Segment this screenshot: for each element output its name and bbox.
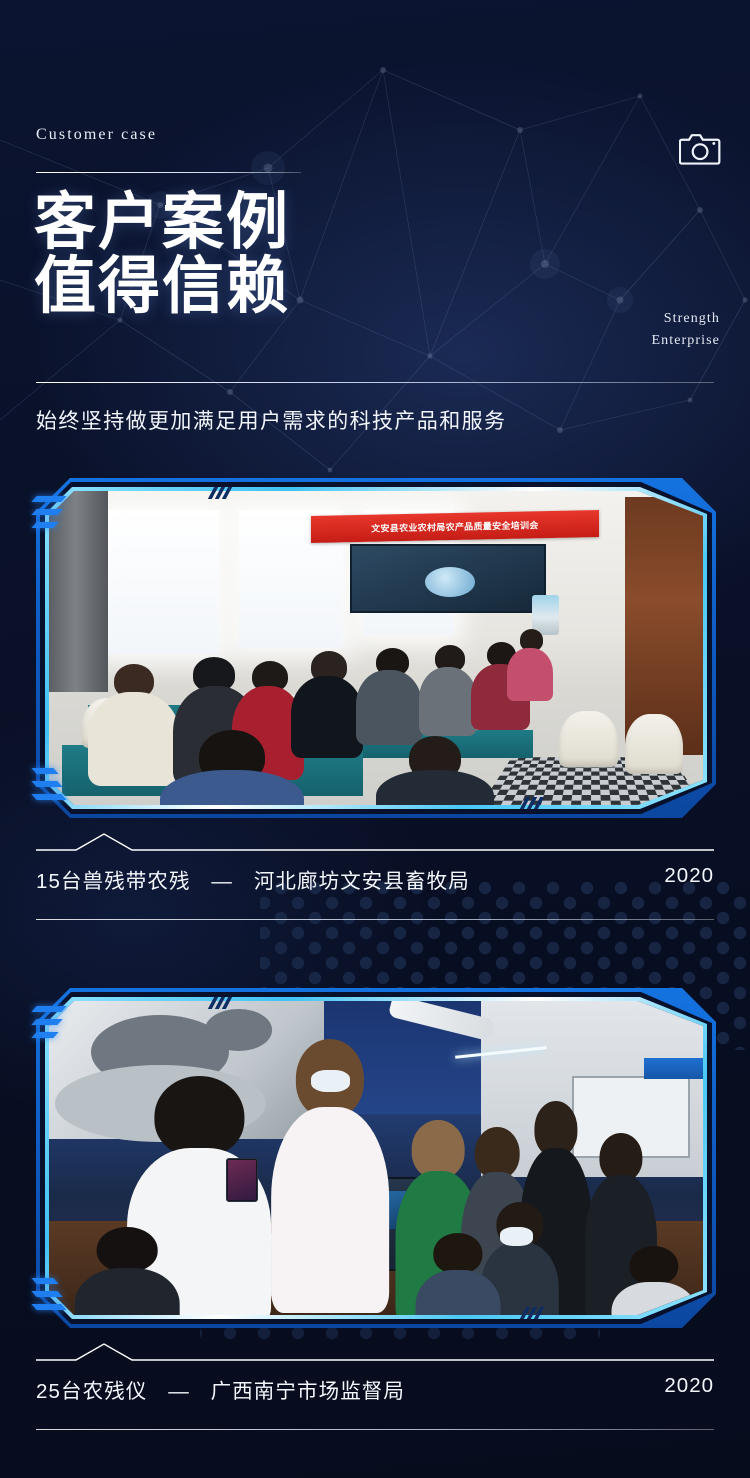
page-subtitle: 始终坚持做更加满足用户需求的科技产品和服务 [36,405,506,435]
case-2-photo[interactable] [49,1001,703,1315]
eyebrow-divider [36,172,301,173]
frame-tick-marks-top [211,487,229,499]
page-title: 客户案例 值得信赖 [34,190,454,319]
strength-enterprise-label: Strength Enterprise [520,308,720,351]
case-1-year: 2020 [664,864,714,888]
case-1-caption-dash: — [211,870,233,893]
page-title-line-1: 客户案例 [34,185,290,258]
lab-demo-scene [49,1001,703,1315]
case-2-caption-org: 广西南宁市场监督局 [211,1380,405,1403]
frame-corner-accent-bottom-left [34,1270,74,1316]
case-item-1[interactable]: 文安县农业农村局农产品质量安全培训会 [0,478,750,936]
case-2-year: 2020 [664,1374,714,1398]
strength-line-1: Strength [520,308,720,330]
frame-tick-marks-bottom [523,797,541,809]
case-1-caption: 15台兽残带农残 — 河北廊坊文安县畜牧局 2020 [0,818,750,936]
strength-line-2: Enterprise [520,330,720,352]
frame-corner-accent-top-left [34,1000,74,1046]
frame-tick-marks-top [211,997,229,1009]
case-1-photo-frame[interactable]: 文安县农业农村局农产品质量安全培训会 [36,478,716,818]
frame-corner-accent-top-left [34,490,74,536]
case-1-caption-text: 15台兽残带农残 — 河北廊坊文安县畜牧局 [36,864,470,894]
caption-bottom-divider [36,919,714,920]
case-2-caption-title: 25台农残仪 [36,1380,147,1403]
page-header: Customer case 客户案例 值得信赖 Strength Enterpr… [0,0,750,470]
seminar-room-scene: 文安县农业农村局农产品质量安全培训会 [49,491,703,805]
case-2-photo-frame[interactable] [36,988,716,1328]
case-2-caption-dash: — [168,1380,190,1403]
frame-tick-marks-bottom [523,1307,541,1319]
case-1-caption-org: 河北廊坊文安县畜牧局 [254,870,470,893]
page-title-line-2: 值得信赖 [34,254,454,318]
case-1-photo[interactable]: 文安县农业农村局农产品质量安全培训会 [49,491,703,805]
caption-bottom-divider [36,1429,714,1430]
eyebrow-label: Customer case [36,126,157,144]
frame-corner-accent-bottom-left [34,760,74,806]
case-2-caption: 25台农残仪 — 广西南宁市场监督局 2020 [0,1328,750,1446]
case-item-2[interactable]: 25台农残仪 — 广西南宁市场监督局 2020 [0,988,750,1446]
caption-top-divider [36,1342,714,1364]
subtitle-divider [36,382,714,383]
caption-top-divider [36,832,714,854]
case-1-caption-title: 15台兽残带农残 [36,870,191,893]
case-2-caption-text: 25台农残仪 — 广西南宁市场监督局 [36,1374,405,1404]
camera-icon [679,128,723,168]
